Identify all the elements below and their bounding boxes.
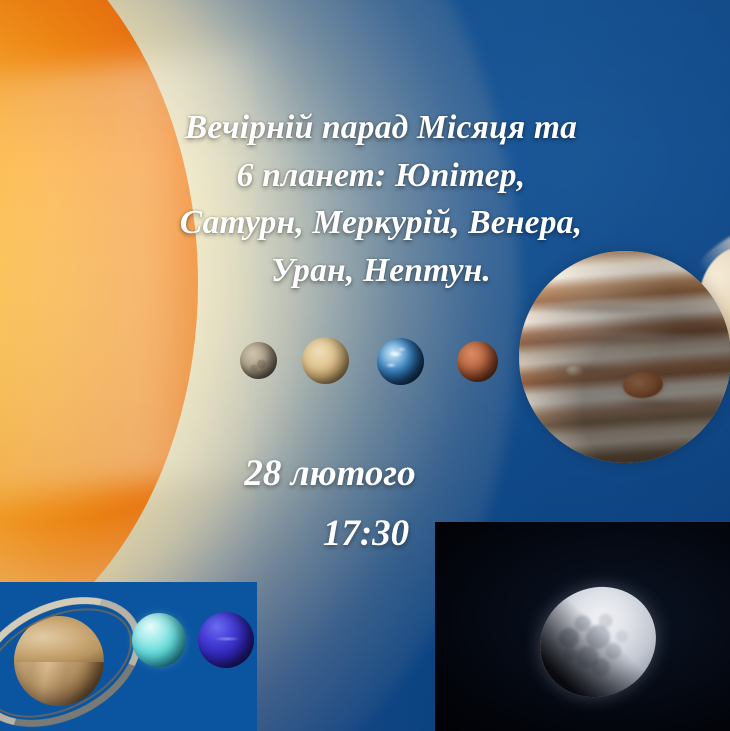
planet-earth-icon: [377, 338, 424, 385]
moon-photo-inset: [435, 522, 730, 731]
planet-jupiter-icon: [519, 251, 730, 463]
planet-uranus-icon: [132, 613, 186, 667]
event-date: 28 лютого: [150, 452, 510, 495]
moon-icon: [521, 567, 676, 718]
planet-venus-icon: [302, 337, 349, 384]
poster-canvas: Вечірній парад Місяця та 6 планет: Юпіте…: [0, 0, 730, 731]
planet-neptune-icon: [198, 612, 254, 668]
planet-mercury-icon: [240, 342, 277, 379]
planet-mars-icon: [457, 341, 498, 382]
moon-terminator: [521, 567, 676, 718]
planet-saturn-icon: [0, 586, 140, 731]
jupiter-shading: [519, 251, 730, 463]
